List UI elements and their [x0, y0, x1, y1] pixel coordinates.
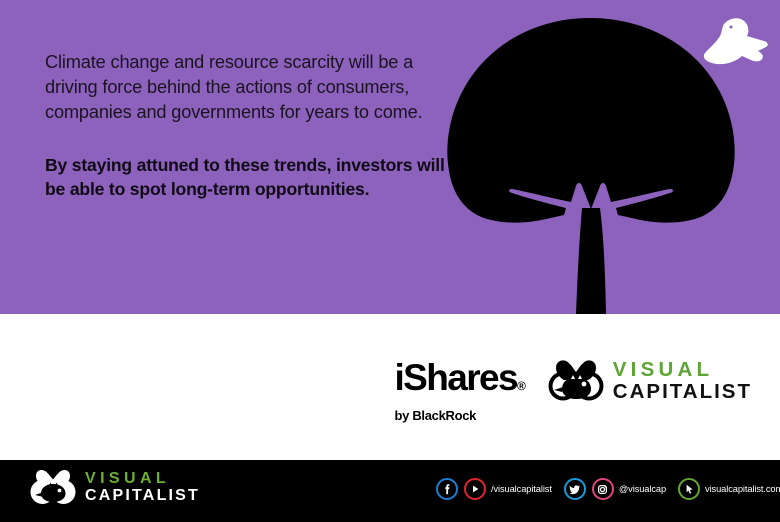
ishares-wordmark: iShares® — [394, 358, 525, 406]
vc-capitalist-text: CAPITALIST — [613, 382, 752, 403]
hero-copy: Climate change and resource scarcity wil… — [45, 50, 445, 201]
logo-row: iShares® by BlackRock VISUAL — [394, 356, 752, 423]
facebook-icon[interactable] — [436, 478, 458, 500]
social-links: /visualcapitalist @visualcap — [436, 478, 780, 500]
footer-wordmark: VISUAL CAPITALIST — [85, 471, 200, 504]
visual-capitalist-wordmark: VISUAL CAPITALIST — [613, 360, 752, 402]
footer-visual-text: VISUAL — [85, 471, 200, 487]
hero-artwork — [420, 0, 780, 314]
footer-capitalist-text: CAPITALIST — [85, 488, 200, 504]
hero-paragraph-bold: By staying attuned to these trends, inve… — [45, 153, 445, 201]
footer-logo: VISUAL CAPITALIST — [30, 469, 200, 506]
vc-visual-text: VISUAL — [613, 360, 752, 381]
tree-silhouette-icon — [430, 12, 750, 314]
hero-paragraph: Climate change and resource scarcity wil… — [45, 50, 445, 125]
cursor-icon[interactable] — [678, 478, 700, 500]
youtube-handle[interactable]: /visualcapitalist — [491, 484, 552, 494]
ishares-byline: by BlackRock — [394, 408, 525, 423]
visual-capitalist-logo: VISUAL CAPITALIST — [548, 359, 752, 403]
ishares-wordmark-text: iShares — [394, 357, 517, 398]
hero-banner: Climate change and resource scarcity wil… — [0, 0, 780, 314]
infographic-slide: Climate change and resource scarcity wil… — [0, 0, 780, 522]
logo-band: iShares® by BlackRock VISUAL — [0, 314, 780, 460]
footer-bar: VISUAL CAPITALIST /visualcapitalist — [0, 460, 780, 522]
twitter-icon[interactable] — [564, 478, 586, 500]
binoculars-bull-mark-icon — [30, 469, 76, 506]
registered-trademark-icon: ® — [517, 379, 526, 393]
ishares-logo: iShares® by BlackRock — [394, 356, 525, 423]
instagram-handle[interactable]: @visualcap — [619, 484, 666, 494]
instagram-icon[interactable] — [592, 478, 614, 500]
website-handle[interactable]: visualcapitalist.com — [705, 484, 780, 494]
binoculars-bull-mark-icon — [548, 359, 604, 403]
youtube-icon[interactable] — [464, 478, 486, 500]
